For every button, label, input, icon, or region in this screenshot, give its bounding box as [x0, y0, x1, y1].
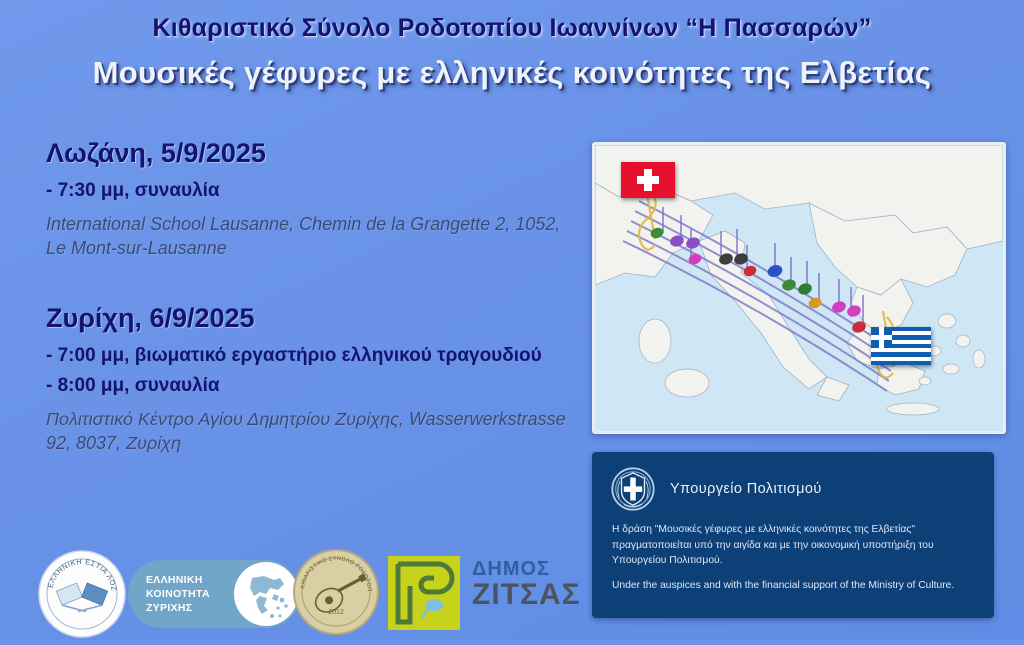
- logo-elliniki-koinotita-zirichis: ΕΛΛΗΝΙΚΗ ΚΟΙΝΟΤΗΤΑ ΖΥΡΙΧΗΣ: [128, 560, 300, 628]
- ensemble-name: Κιθαριστικό Σύνολο Ροδοτοπίου Ιωαννίνων …: [0, 14, 1024, 43]
- event-line: - 7:30 μμ, συναυλία: [46, 179, 566, 203]
- logo-elliniki-estia-lozannis: ΕΛΛΗΝΙΚΗ ΕΣΤΙΑ ΛΟΖΑΝΝΗΣ: [36, 548, 128, 640]
- rodotopi-seal-year: 2012: [328, 609, 344, 616]
- poster-canvas: Κιθαριστικό Σύνολο Ροδοτοπίου Ιωαννίνων …: [0, 0, 1024, 640]
- zurich-logo-text: ΕΛΛΗΝΙΚΗ ΚΟΙΝΟΤΗΤΑ ΖΥΡΙΧΗΣ: [128, 573, 210, 616]
- greek-coat-of-arms-icon: [610, 466, 656, 512]
- event-line: - 7:00 μμ, βιωματικό εργαστήριο ελληνικο…: [46, 344, 566, 368]
- sponsor-logo-strip: ΕΛΛΗΝΙΚΗ ΕΣΤΙΑ ΛΟΖΑΝΝΗΣ ΕΛΛΗΝΙΚΗ ΚΟΙΝΟΤΗ…: [0, 544, 1024, 640]
- event-city-date: Ζυρίχη, 6/9/2025: [46, 303, 566, 334]
- events-column: Λωζάνη, 5/9/2025 - 7:30 μμ, συναυλία Int…: [46, 138, 566, 456]
- event-address: International School Lausanne, Chemin de…: [46, 213, 566, 261]
- ministry-header: Υπουργείο Πολιτισμού: [592, 452, 994, 512]
- logo-dimos-zitsas: ΔΗΜΟΣ ΖΙΤΣΑΣ: [388, 556, 588, 632]
- logo-kitharistiko-synolo-rodotopiou: ΚΙΘΑΡΙΣΤΙΚΟ ΣΥΝΟΛΟ ΡΟΔΟΤΟΠΙΟΥ ΙΩΑΝΝΙΝΩΝ …: [292, 548, 380, 636]
- event-line: - 8:00 μμ, συναυλία: [46, 374, 566, 398]
- zitsa-line2: ΖΙΤΣΑΣ: [472, 578, 581, 612]
- event-block-lausanne: Λωζάνη, 5/9/2025 - 7:30 μμ, συναυλία Int…: [46, 138, 566, 261]
- event-title: Μουσικές γέφυρες με ελληνικές κοινότητες…: [0, 55, 1024, 91]
- greece-silhouette-icon: [234, 562, 298, 626]
- lausanne-seal-icon: ΕΛΛΗΝΙΚΗ ΕΣΤΙΑ ΛΟΖΑΝΝΗΣ: [36, 548, 128, 640]
- ministry-title: Υπουργείο Πολιτισμού: [670, 481, 822, 497]
- rodotopi-seal-icon: ΚΙΘΑΡΙΣΤΙΚΟ ΣΥΝΟΛΟ ΡΟΔΟΤΟΠΙΟΥ ΙΩΑΝΝΙΝΩΝ …: [292, 548, 380, 636]
- greece-map-badge: [234, 562, 298, 626]
- europe-map: [592, 142, 1006, 434]
- zitsa-emblem-icon: [388, 556, 460, 630]
- event-city-date: Λωζάνη, 5/9/2025: [46, 138, 566, 169]
- event-address: Πολιτιστικό Κέντρο Αγίου Δημητρίου Ζυρίχ…: [46, 408, 566, 456]
- greek-flag: [871, 327, 931, 365]
- event-block-zurich: Ζυρίχη, 6/9/2025 - 7:00 μμ, βιωματικό ερ…: [46, 303, 566, 456]
- swiss-flag: [621, 162, 675, 198]
- poster-header: Κιθαριστικό Σύνολο Ροδοτοπίου Ιωαννίνων …: [0, 14, 1024, 91]
